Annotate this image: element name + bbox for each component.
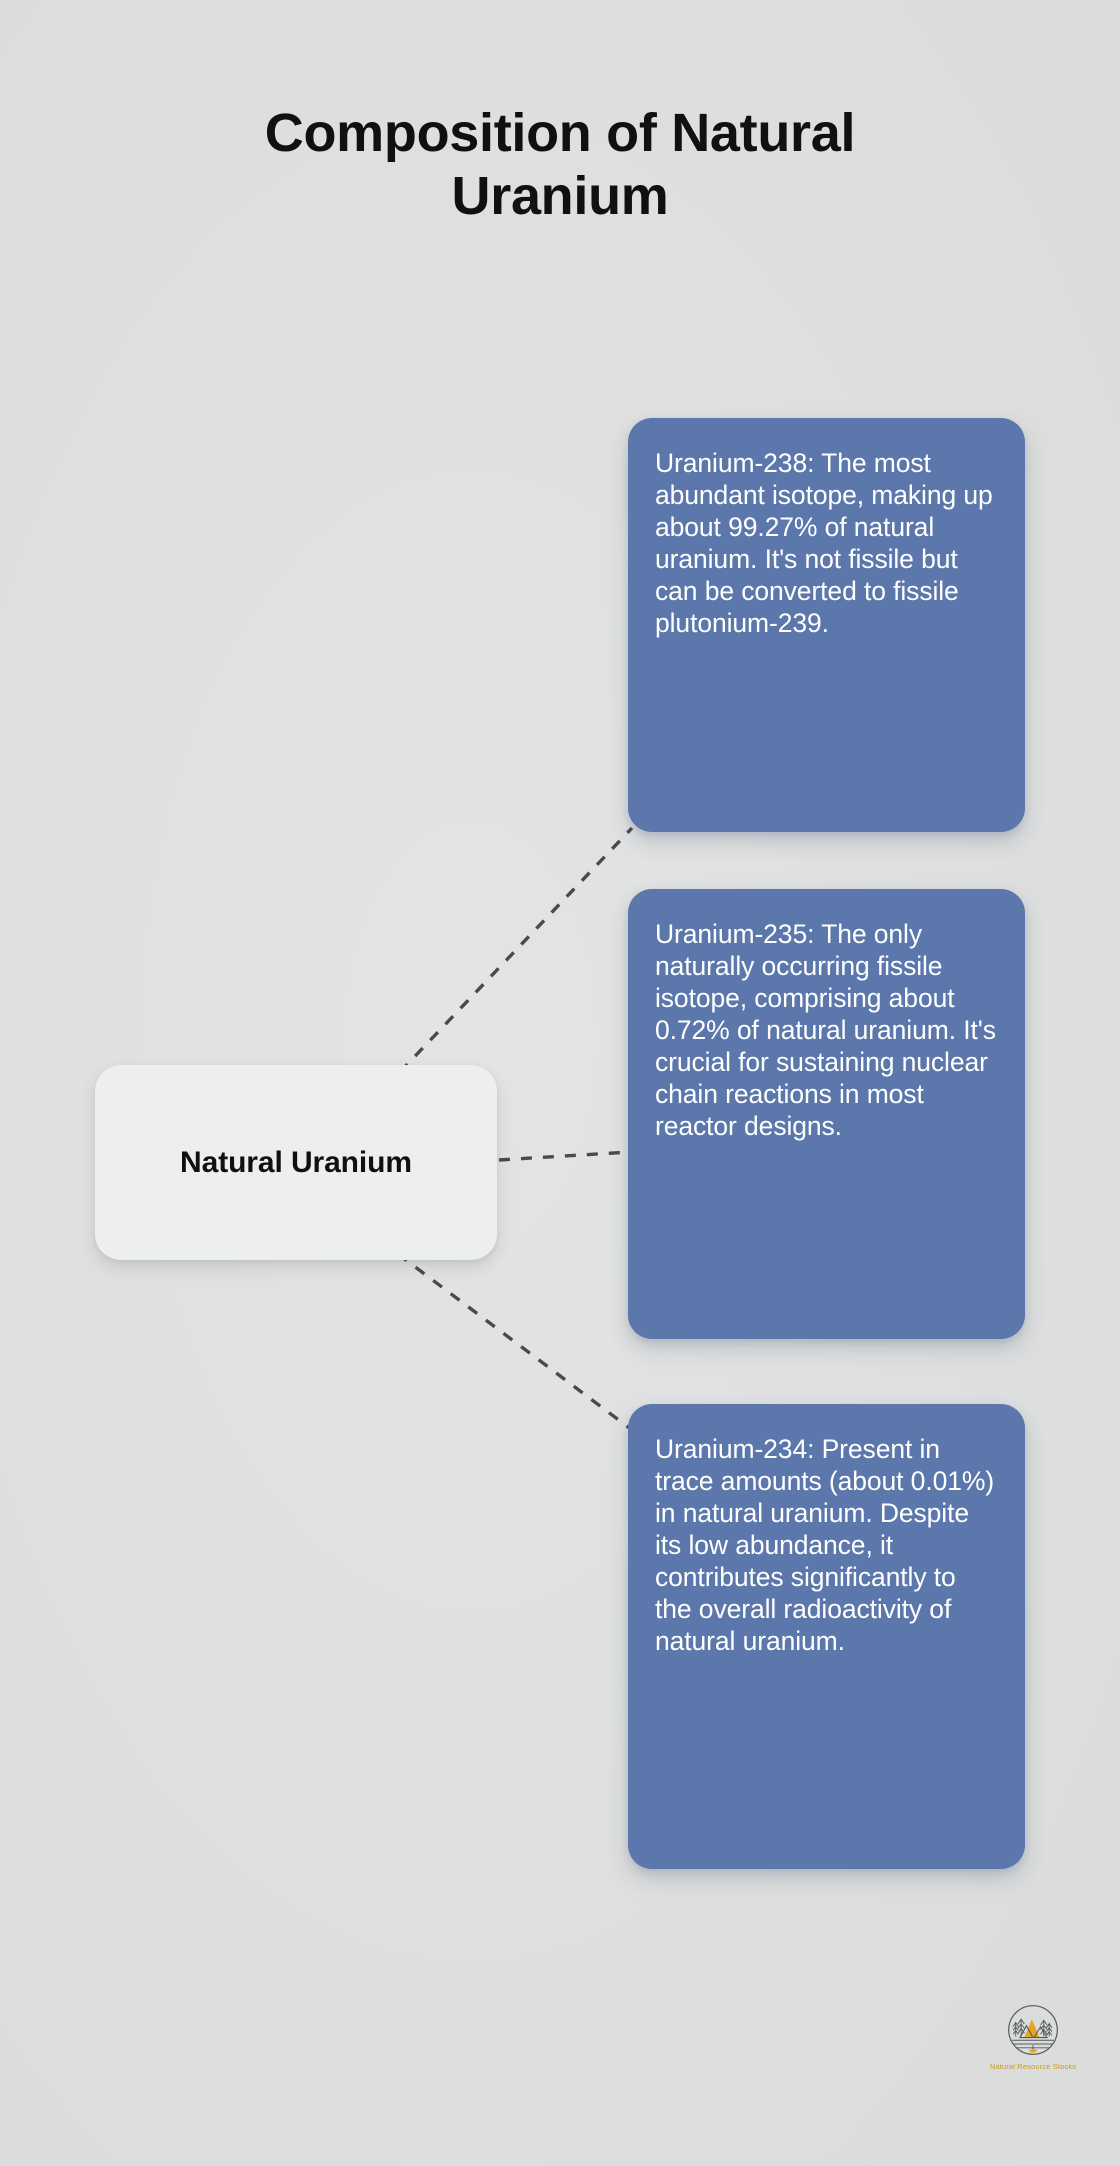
page-title: Composition of Natural Uranium xyxy=(180,102,940,227)
branch-card-text-uranium-238: Uranium-238: The most abundant isotope, … xyxy=(655,448,997,640)
center-node-label: Natural Uranium xyxy=(180,1146,412,1180)
mountain-forest-logo-icon xyxy=(1006,2003,1060,2057)
branch-card-text-uranium-235: Uranium-235: The only naturally occurrin… xyxy=(655,919,997,1142)
brand-logo-caption: Natural Resource Stocks xyxy=(973,2062,1093,2071)
infographic-canvas: Composition of Natural Uranium Natural U… xyxy=(0,0,1120,2166)
connector-line-uranium-234 xyxy=(398,1254,632,1430)
branch-card-uranium-238[interactable]: Uranium-238: The most abundant isotope, … xyxy=(628,418,1025,832)
center-node[interactable]: Natural Uranium xyxy=(95,1065,497,1260)
branch-card-uranium-234[interactable]: Uranium-234: Present in trace amounts (a… xyxy=(628,1404,1025,1869)
page-title-container: Composition of Natural Uranium xyxy=(0,66,1120,264)
connector-line-uranium-235 xyxy=(499,1152,630,1160)
brand-logo-block: Natural Resource Stocks xyxy=(973,2003,1093,2071)
branch-card-text-uranium-234: Uranium-234: Present in trace amounts (a… xyxy=(655,1434,997,1657)
connector-line-uranium-238 xyxy=(400,828,632,1072)
branch-card-uranium-235[interactable]: Uranium-235: The only naturally occurrin… xyxy=(628,889,1025,1339)
